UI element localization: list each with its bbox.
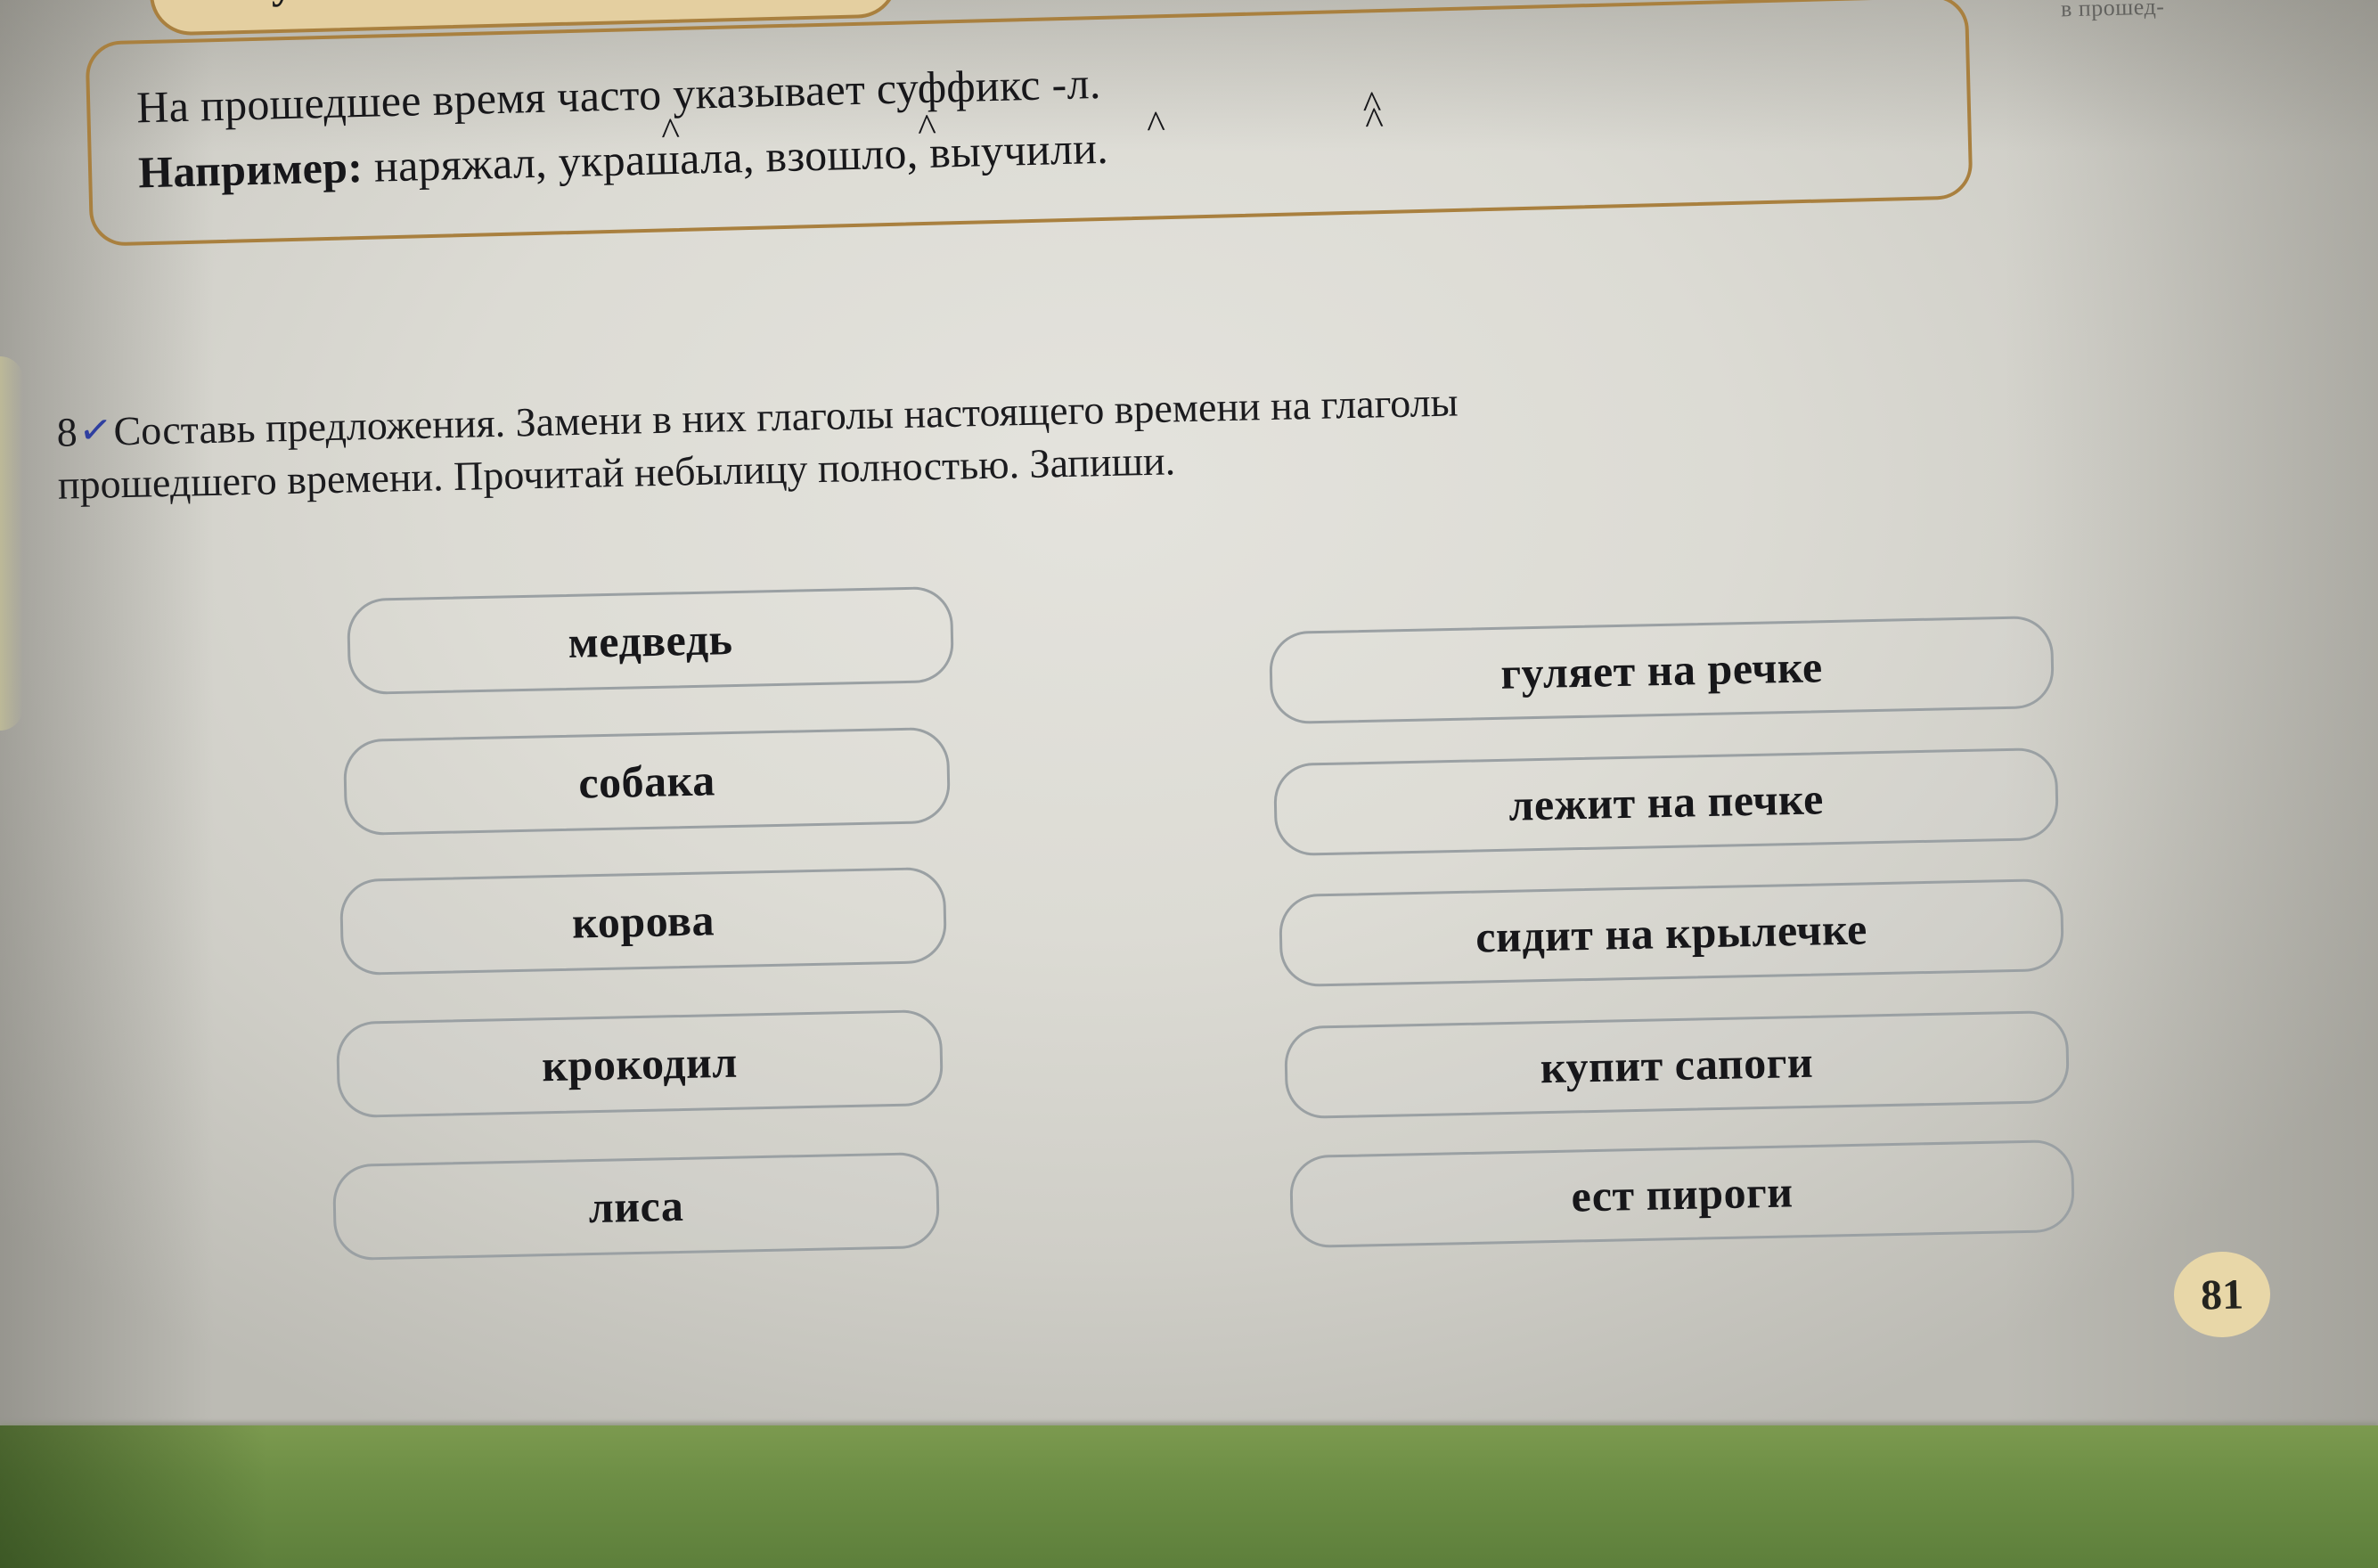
word-pill-label: лежит на печке <box>1508 772 1825 830</box>
callout-tab-label: Хочу знать больше! <box>193 0 591 10</box>
word-pill-predicate-5[interactable]: ест пироги <box>1289 1139 2075 1248</box>
word-pill-label: сидит на крылечке <box>1475 902 1868 962</box>
word-pill-predicate-3[interactable]: сидит на крылечке <box>1279 878 2064 987</box>
word-pill-predicate-1[interactable]: гуляет на речке <box>1269 616 2055 724</box>
word-pill-subject-3[interactable]: корова <box>339 867 947 976</box>
callout-example-words: наряжал, украшала, взошло, выучили. <box>373 123 1108 192</box>
word-pill-label: лиса <box>588 1180 684 1233</box>
task-number: 8 <box>56 409 78 454</box>
suffix-caret-icon-4: ^ <box>1147 105 1166 145</box>
cut-off-top-text: в прошед- <box>2060 0 2164 22</box>
suffix-caret-icon-5: ^ <box>1365 102 1385 142</box>
suffix-caret-icon-3: ^ <box>918 109 937 149</box>
word-pill-predicate-2[interactable]: лежит на печке <box>1273 747 2059 856</box>
textbook-page-photo: в прошед- На прошедшее время часто указы… <box>0 0 2378 1568</box>
word-pill-label: медведь <box>568 613 733 668</box>
word-pill-label: гуляет на речке <box>1500 641 1823 699</box>
word-pill-label: ест пироги <box>1571 1165 1794 1221</box>
word-pill-subject-1[interactable]: медведь <box>347 586 954 695</box>
word-pill-label: купит сапоги <box>1540 1036 1813 1093</box>
callout-example-label: Например: <box>137 142 363 197</box>
word-pill-subject-5[interactable]: лиса <box>332 1152 940 1261</box>
word-pill-label: собака <box>578 754 715 808</box>
suffix-caret-icon-2: ^ <box>661 112 681 152</box>
word-pill-predicate-4[interactable]: купит сапоги <box>1284 1010 2070 1119</box>
word-pill-subject-2[interactable]: собака <box>343 727 951 836</box>
word-pill-subject-4[interactable]: крокодил <box>336 1009 944 1118</box>
desk-shadow <box>0 1425 267 1568</box>
callout-line-1: На прошедшее время часто указывает суффи… <box>136 57 1102 133</box>
page-edge-highlight <box>0 356 23 731</box>
word-pill-label: корова <box>572 894 715 948</box>
word-pill-label: крокодил <box>542 1036 739 1092</box>
check-mark-icon: ✓ <box>76 404 114 458</box>
callout-line-2: Например: наряжал, украшала, взошло, выу… <box>137 122 1108 199</box>
desk-surface <box>0 1425 2378 1568</box>
